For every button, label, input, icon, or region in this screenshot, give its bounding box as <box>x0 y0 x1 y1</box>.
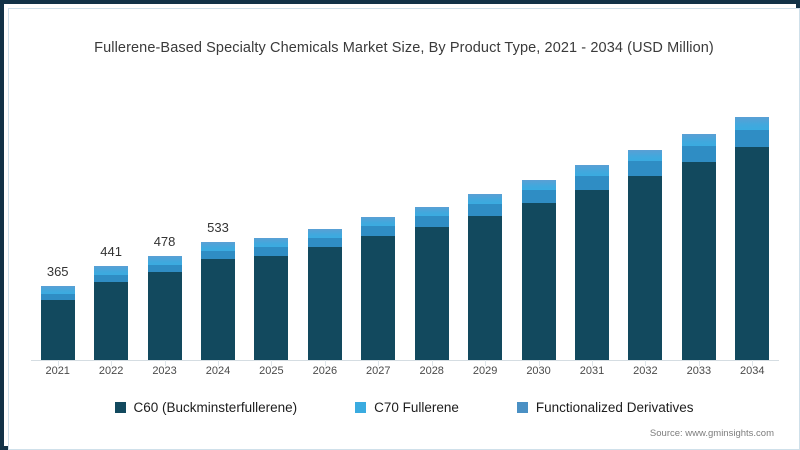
x-axis-label-2022: 2022 <box>81 365 141 377</box>
x-axis-label-2029: 2029 <box>455 365 515 377</box>
legend-item-functionalized[interactable]: Functionalized Derivatives <box>517 400 694 415</box>
bar-segment-c70-2029 <box>468 194 502 204</box>
bar-segment-functionalized-2024 <box>201 251 235 259</box>
bar-segment-c60-2031 <box>575 190 609 360</box>
x-axis-label-2025: 2025 <box>241 365 301 377</box>
bar-segment-c60-2026 <box>308 247 342 360</box>
chart-legend: C60 (Buckminsterfullerene) C70 Fullerene… <box>4 400 800 415</box>
data-label-2023: 478 <box>135 234 195 249</box>
bar-segment-c70-2025 <box>254 238 288 247</box>
x-axis-label-2031: 2031 <box>562 365 622 377</box>
x-axis-line <box>31 360 779 361</box>
bar-2029[interactable] <box>468 194 502 360</box>
legend-swatch-c60 <box>115 402 126 413</box>
bar-2030[interactable] <box>522 180 556 360</box>
bar-segment-c70-2034 <box>735 117 769 130</box>
bar-segment-c60-2028 <box>415 227 449 360</box>
x-axis-label-2027: 2027 <box>348 365 408 377</box>
bar-segment-functionalized-2023 <box>148 265 182 272</box>
x-axis-label-2030: 2030 <box>509 365 569 377</box>
legend-item-c70[interactable]: C70 Fullerene <box>355 400 459 415</box>
bar-2033[interactable] <box>682 134 716 360</box>
bar-2028[interactable] <box>415 207 449 360</box>
bar-2021[interactable] <box>41 286 75 360</box>
legend-label-c70: C70 Fullerene <box>374 400 459 415</box>
bar-segment-c70-2031 <box>575 165 609 176</box>
chart-title: Fullerene-Based Specialty Chemicals Mark… <box>4 40 800 56</box>
bar-2026[interactable] <box>308 229 342 360</box>
bar-2032[interactable] <box>628 150 662 360</box>
x-axis-label-2026: 2026 <box>295 365 355 377</box>
legend-label-functionalized: Functionalized Derivatives <box>536 400 694 415</box>
bar-segment-c70-2027 <box>361 217 395 226</box>
bar-segment-functionalized-2028 <box>415 216 449 227</box>
bar-segment-functionalized-2031 <box>575 176 609 190</box>
bar-segment-c60-2021 <box>41 300 75 360</box>
bar-segment-c70-2028 <box>415 207 449 216</box>
bar-segment-c70-2023 <box>148 256 182 265</box>
legend-swatch-c70 <box>355 402 366 413</box>
x-axis-label-2023: 2023 <box>135 365 195 377</box>
bar-segment-c60-2034 <box>735 147 769 360</box>
bar-segment-c60-2023 <box>148 272 182 360</box>
bar-segment-functionalized-2022 <box>94 275 128 282</box>
data-label-2022: 441 <box>81 244 141 259</box>
bar-segment-c60-2029 <box>468 216 502 360</box>
bar-segment-c60-2024 <box>201 259 235 360</box>
bar-2023[interactable] <box>148 256 182 360</box>
bar-2034[interactable] <box>735 117 769 360</box>
bar-segment-functionalized-2027 <box>361 226 395 236</box>
bar-segment-functionalized-2033 <box>682 146 716 162</box>
bar-2024[interactable] <box>201 242 235 360</box>
source-attribution: Source: www.gminsights.com <box>650 428 774 439</box>
bar-segment-c60-2022 <box>94 282 128 360</box>
bar-segment-c70-2026 <box>308 229 342 238</box>
bar-segment-functionalized-2026 <box>308 238 342 247</box>
x-axis-label-2024: 2024 <box>188 365 248 377</box>
data-label-2024: 533 <box>188 220 248 235</box>
bar-segment-c70-2030 <box>522 180 556 190</box>
bar-2025[interactable] <box>254 238 288 360</box>
x-axis-label-2021: 2021 <box>28 365 88 377</box>
bar-segment-c60-2033 <box>682 162 716 360</box>
bar-segment-functionalized-2034 <box>735 130 769 147</box>
x-axis-label-2034: 2034 <box>722 365 782 377</box>
bar-segment-c60-2030 <box>522 203 556 360</box>
bar-segment-c70-2033 <box>682 134 716 146</box>
chart-frame: Fullerene-Based Specialty Chemicals Mark… <box>0 0 800 450</box>
bar-segment-functionalized-2025 <box>254 247 288 256</box>
bar-segment-c70-2022 <box>94 266 128 275</box>
legend-label-c60: C60 (Buckminsterfullerene) <box>134 400 298 415</box>
bar-segment-functionalized-2029 <box>468 204 502 216</box>
legend-item-c60[interactable]: C60 (Buckminsterfullerene) <box>115 400 298 415</box>
bar-segment-c70-2021 <box>41 286 75 294</box>
legend-swatch-functionalized <box>517 402 528 413</box>
bar-segment-functionalized-2030 <box>522 190 556 203</box>
bar-2022[interactable] <box>94 266 128 360</box>
plot-area <box>31 79 779 360</box>
data-label-2021: 365 <box>28 264 88 279</box>
bar-segment-functionalized-2032 <box>628 161 662 176</box>
bar-segment-c60-2027 <box>361 236 395 360</box>
bar-segment-c60-2032 <box>628 176 662 360</box>
x-axis-label-2033: 2033 <box>669 365 729 377</box>
bar-segment-c70-2024 <box>201 242 235 251</box>
x-axis-label-2028: 2028 <box>402 365 462 377</box>
x-axis-label-2032: 2032 <box>615 365 675 377</box>
bar-segment-c60-2025 <box>254 256 288 360</box>
bar-2027[interactable] <box>361 217 395 360</box>
bar-segment-c70-2032 <box>628 150 662 161</box>
bar-2031[interactable] <box>575 165 609 360</box>
